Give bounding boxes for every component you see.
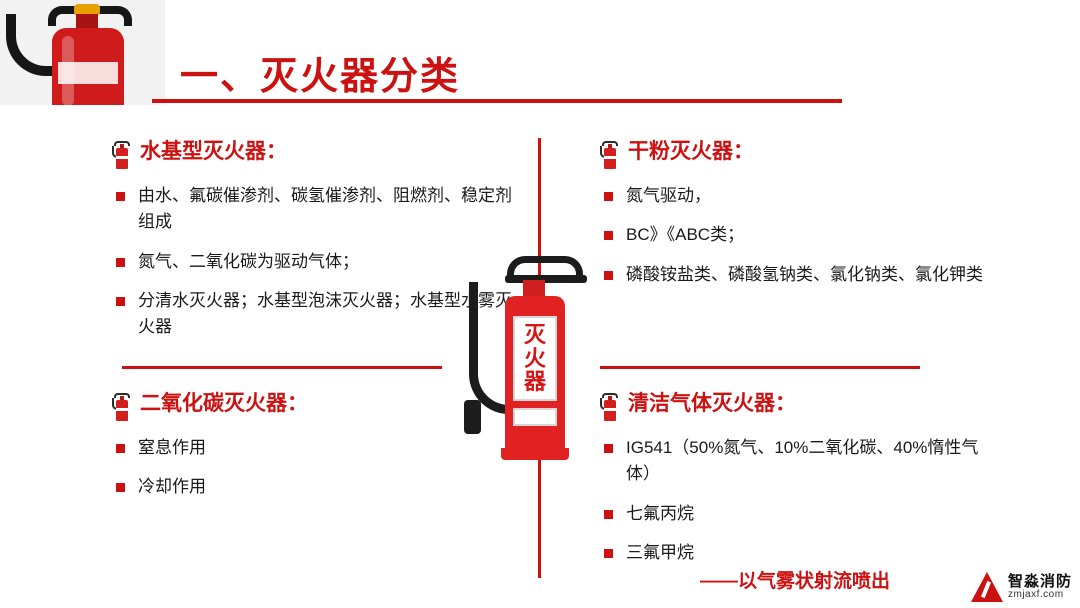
watermark-url: zmjaxf.com [1008, 590, 1072, 601]
watermark-name: 智淼消防 [1008, 574, 1072, 590]
photo-label [58, 62, 118, 84]
slide-canvas: 一、灭火器分类 水基型灭火器： 由水、氟碳催渗剂、碳氢催渗剂、阻燃剂、稳定剂组成… [0, 0, 1080, 608]
illustration-base [501, 448, 569, 460]
section-title: 干粉灭火器： [628, 140, 754, 163]
fire-extinguisher-illustration: 灭火器 [455, 250, 625, 500]
section-title: 二氧化碳灭火器： [140, 392, 308, 415]
section-title-row: 清洁气体灭火器： [600, 392, 1000, 421]
section-title-row: 干粉灭火器： [600, 140, 1000, 169]
watermark: 智淼消防 zmjaxf.com [971, 572, 1072, 602]
list-item: 磷酸铵盐类、磷酸氢钠类、氯化钠类、氯化钾类 [600, 262, 1000, 288]
fire-extinguisher-icon [112, 141, 132, 169]
list-item: BC》《ABC类； [600, 222, 1000, 248]
list-item: 氮气驱动， [600, 183, 1000, 209]
list-item: 冷却作用 [112, 474, 512, 500]
left-horizontal-divider [122, 366, 442, 369]
list-item: 窒息作用 [112, 435, 512, 461]
illustration-handle-bar [505, 275, 587, 283]
section-title-row: 水基型灭火器： [112, 140, 522, 169]
illustration-nozzle [464, 400, 481, 434]
illustration-stripe [513, 408, 557, 426]
zhimiao-logo-icon [971, 572, 1003, 602]
section-title: 清洁气体灭火器： [628, 392, 796, 415]
page-title: 一、灭火器分类 [180, 45, 460, 100]
footer-note: ——以气雾状射流喷出 [700, 566, 890, 593]
bullet-list: 氮气驱动， BC》《ABC类； 磷酸铵盐类、磷酸氢钠类、氯化钠类、氯化钾类 [600, 183, 1000, 288]
section-carbon-dioxide: 二氧化碳灭火器： 窒息作用 冷却作用 [112, 392, 512, 514]
fire-extinguisher-icon [112, 393, 132, 421]
fire-extinguisher-icon [600, 141, 620, 169]
section-title-row: 二氧化碳灭火器： [112, 392, 512, 421]
section-clean-gas: 清洁气体灭火器： IG541（50%氮气、10%二氧化碳、40%惰性气体） 七氟… [600, 392, 1000, 579]
watermark-text: 智淼消防 zmjaxf.com [1008, 574, 1072, 600]
header-divider [152, 99, 842, 103]
illustration-hose [469, 282, 509, 414]
list-item: 七氟丙烷 [600, 501, 1000, 527]
bullet-list: 窒息作用 冷却作用 [112, 435, 512, 501]
bullet-list: IG541（50%氮气、10%二氧化碳、40%惰性气体） 七氟丙烷 三氟甲烷 [600, 435, 1000, 566]
list-item: 由水、氟碳催渗剂、碳氢催渗剂、阻燃剂、稳定剂组成 [112, 183, 522, 236]
list-item: 三氟甲烷 [600, 540, 1000, 566]
illustration-label-text: 灭火器 [515, 323, 555, 394]
list-item: IG541（50%氮气、10%二氧化碳、40%惰性气体） [600, 435, 1000, 488]
right-horizontal-divider [600, 366, 920, 369]
section-dry-powder: 干粉灭火器： 氮气驱动， BC》《ABC类； 磷酸铵盐类、磷酸氢钠类、氯化钠类、… [600, 140, 1000, 301]
illustration-label: 灭火器 [513, 316, 557, 401]
fire-extinguisher-photo [0, 0, 165, 105]
section-title: 水基型灭火器： [140, 140, 287, 163]
